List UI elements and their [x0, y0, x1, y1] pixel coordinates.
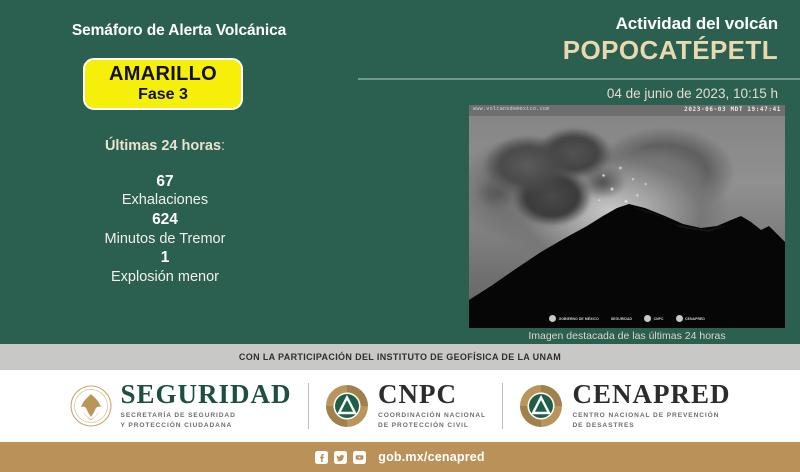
- stat-value: 67: [0, 172, 330, 191]
- unam-participation-strip: CON LA PARTICIPACIÓN DEL INSTITUTO DE GE…: [0, 344, 800, 370]
- logo-name: SEGURIDAD: [121, 381, 292, 408]
- youtube-icon[interactable]: [353, 451, 366, 464]
- period-label: Últimas 24 horas: [105, 138, 221, 154]
- logo-subtitle-line: DE DESASTRES: [572, 421, 730, 431]
- stat-value: 1: [0, 248, 330, 267]
- volcano-activity-infographic: Semáforo de Alerta Volcánica AMARILLO Fa…: [0, 0, 800, 472]
- logo-seguridad: SEGURIDAD SECRETARÍA DE SEGURIDAD Y PROT…: [54, 381, 308, 430]
- webcam-logo-cnpc: CNPC: [644, 315, 664, 322]
- period-colon: :: [221, 138, 225, 154]
- logo-name: CENAPRED: [572, 381, 730, 408]
- webcam-logo-gobierno: GOBIERNO DE MÉXICO: [549, 315, 599, 322]
- webcam-watermark: www.volcansdemexico.com: [473, 106, 549, 112]
- webcam-logo-seguridad: SEGURIDAD: [611, 317, 632, 321]
- logo-text-block: SEGURIDAD SECRETARÍA DE SEGURIDAD Y PROT…: [121, 381, 292, 430]
- webcam-logo-label: CNPC: [654, 317, 664, 321]
- eagle-seal-icon: [549, 315, 556, 322]
- cenapred-emblem-icon: [519, 384, 563, 428]
- logo-cnpc: CNPC COORDINACIÓN NACIONAL DE PROTECCIÓN…: [309, 381, 502, 430]
- stats-list: 67 Exhalaciones 624 Minutos de Tremor 1 …: [0, 172, 330, 287]
- logo-cenapred: CENAPRED CENTRO NACIONAL DE PREVENCIÓN D…: [503, 381, 746, 430]
- stat-label: Minutos de Tremor: [0, 230, 330, 249]
- logo-text-block: CNPC COORDINACIÓN NACIONAL DE PROTECCIÓN…: [378, 381, 486, 430]
- webcam-logo-label: GOBIERNO DE MÉXICO: [559, 317, 599, 321]
- semaforo-title: Semáforo de Alerta Volcánica: [0, 22, 358, 40]
- webcam-caption: Imagen destacada de las últimas 24 horas: [469, 330, 785, 342]
- logo-subtitle: SECRETARÍA DE SEGURIDAD Y PROTECCIÓN CIU…: [121, 411, 292, 430]
- alert-level-box: AMARILLO Fase 3: [83, 58, 243, 110]
- webcam-logo-label: CENAPRED: [685, 317, 705, 321]
- header-divider: [358, 78, 800, 80]
- stat-value: 624: [0, 210, 330, 229]
- cnpc-seal-icon: [644, 315, 651, 322]
- alert-phase-label: Fase 3: [138, 85, 188, 104]
- stat-label: Explosión menor: [0, 268, 330, 287]
- webcam-overlay-logos: GOBIERNO DE MÉXICO SEGURIDAD CNPC CENAP: [469, 315, 785, 322]
- webcam-timestamp: 2023-06-03 MDT 19:47:41: [684, 106, 781, 113]
- period-heading: Últimas 24 horas:: [0, 138, 330, 154]
- facebook-icon[interactable]: [315, 451, 328, 464]
- cenapred-seal-icon: [676, 315, 683, 322]
- page-title: POPOCATÉPETL: [563, 35, 778, 66]
- unam-participation-text: CON LA PARTICIPACIÓN DEL INSTITUTO DE GE…: [239, 352, 561, 362]
- webcam-volcano-silhouette: [469, 168, 785, 328]
- stat-label: Exhalaciones: [0, 191, 330, 210]
- logo-name: CNPC: [378, 381, 486, 408]
- alert-column: Semáforo de Alerta Volcánica AMARILLO Fa…: [0, 0, 358, 344]
- logo-subtitle-line: DE PROTECCIÓN CIVIL: [378, 421, 486, 431]
- logo-subtitle: CENTRO NACIONAL DE PREVENCIÓN DE DESASTR…: [572, 411, 730, 430]
- webcam-image: GOBIERNO DE MÉXICO SEGURIDAD CNPC CENAP: [469, 105, 785, 328]
- main-green-panel: Semáforo de Alerta Volcánica AMARILLO Fa…: [0, 0, 800, 344]
- report-datetime: 04 de junio de 2023, 10:15 h: [607, 86, 778, 101]
- logo-text-block: CENAPRED CENTRO NACIONAL DE PREVENCIÓN D…: [572, 381, 730, 430]
- institution-logo-footer: SEGURIDAD SECRETARÍA DE SEGURIDAD Y PROT…: [0, 370, 800, 442]
- volcano-column: Actividad del volcán POPOCATÉPETL 04 de …: [358, 0, 800, 344]
- logo-subtitle: COORDINACIÓN NACIONAL DE PROTECCIÓN CIVI…: [378, 411, 486, 430]
- social-url[interactable]: gob.mx/cenapred: [378, 450, 485, 464]
- logo-subtitle-line: CENTRO NACIONAL DE PREVENCIÓN: [572, 411, 730, 421]
- social-footer-bar: gob.mx/cenapred: [0, 442, 800, 472]
- twitter-icon[interactable]: [334, 451, 347, 464]
- cnpc-emblem-icon: [325, 384, 369, 428]
- logo-subtitle-line: COORDINACIÓN NACIONAL: [378, 411, 486, 421]
- mexican-eagle-seal-icon: [70, 385, 112, 427]
- header-subtitle: Actividad del volcán: [616, 14, 778, 34]
- logo-subtitle-line: Y PROTECCIÓN CIUDADANA: [121, 421, 292, 431]
- webcam-logo-label: SEGURIDAD: [611, 317, 632, 321]
- webcam-logo-cenapred: CENAPRED: [676, 315, 705, 322]
- logo-subtitle-line: SECRETARÍA DE SEGURIDAD: [121, 411, 292, 421]
- alert-level-label: AMARILLO: [109, 64, 217, 85]
